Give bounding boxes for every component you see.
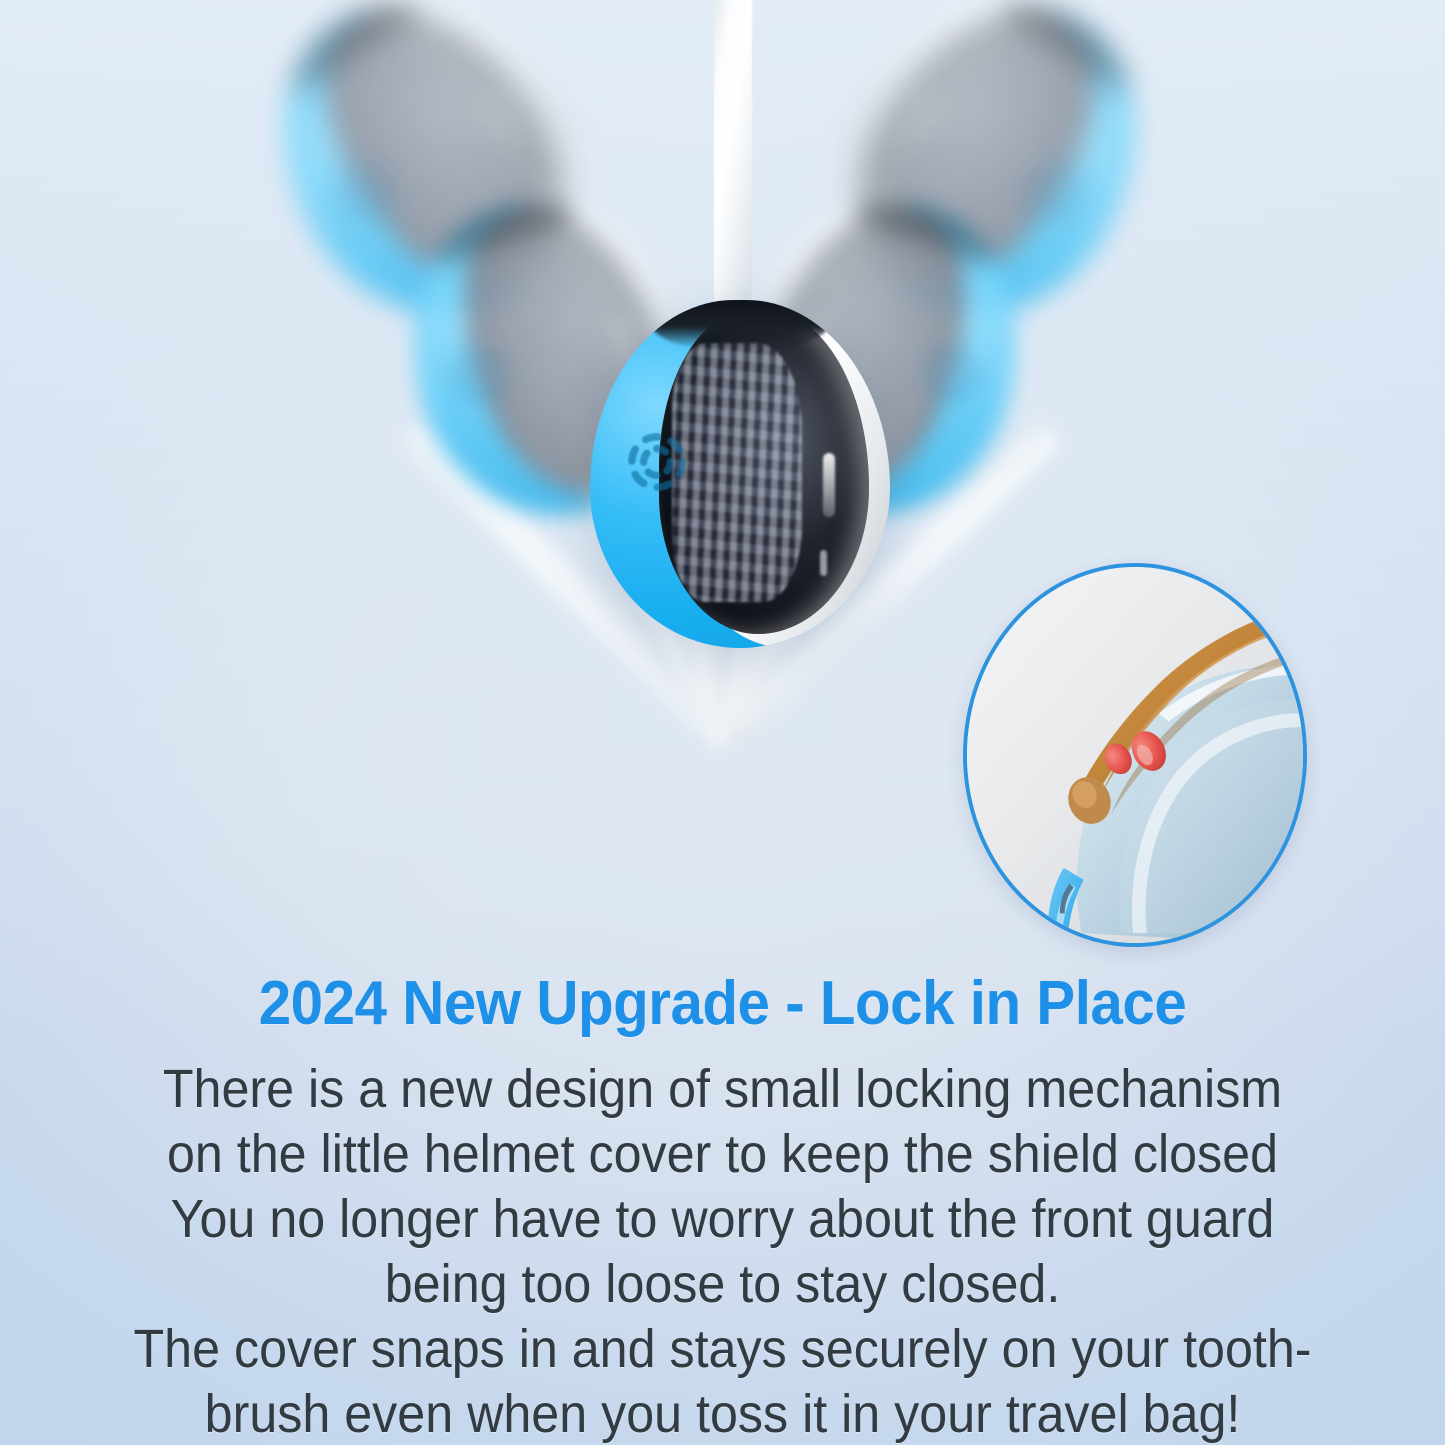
- shield-highlight: [820, 550, 827, 576]
- product-feature-panel: 2024 New Upgrade - Lock in Place There i…: [0, 0, 1445, 1445]
- toothbrush-head-main: [590, 300, 890, 648]
- head-collar: [650, 300, 830, 349]
- copy-block: 2024 New Upgrade - Lock in Place There i…: [0, 965, 1445, 1445]
- toothbrush-handle: [714, 0, 752, 310]
- description-line: There is a new design of small locking m…: [51, 1057, 1395, 1122]
- description-paragraph: There is a new design of small locking m…: [51, 1057, 1395, 1445]
- page-title: 2024 New Upgrade - Lock in Place: [43, 965, 1401, 1043]
- description-line: You no longer have to worry about the fr…: [51, 1187, 1395, 1252]
- shield-highlight: [823, 453, 835, 517]
- locking-mechanism-closeup-inset: [963, 563, 1307, 947]
- helmet-cover-shell: [590, 300, 890, 648]
- description-line: brush even when you toss it in your trav…: [51, 1382, 1395, 1445]
- cad-render: [965, 565, 1305, 945]
- description-line: The cover snaps in and stays securely on…: [51, 1317, 1395, 1382]
- description-line: on the little helmet cover to keep the s…: [51, 1122, 1395, 1187]
- description-line: being too loose to stay closed.: [51, 1252, 1395, 1317]
- vent-grille-icon: [620, 425, 694, 499]
